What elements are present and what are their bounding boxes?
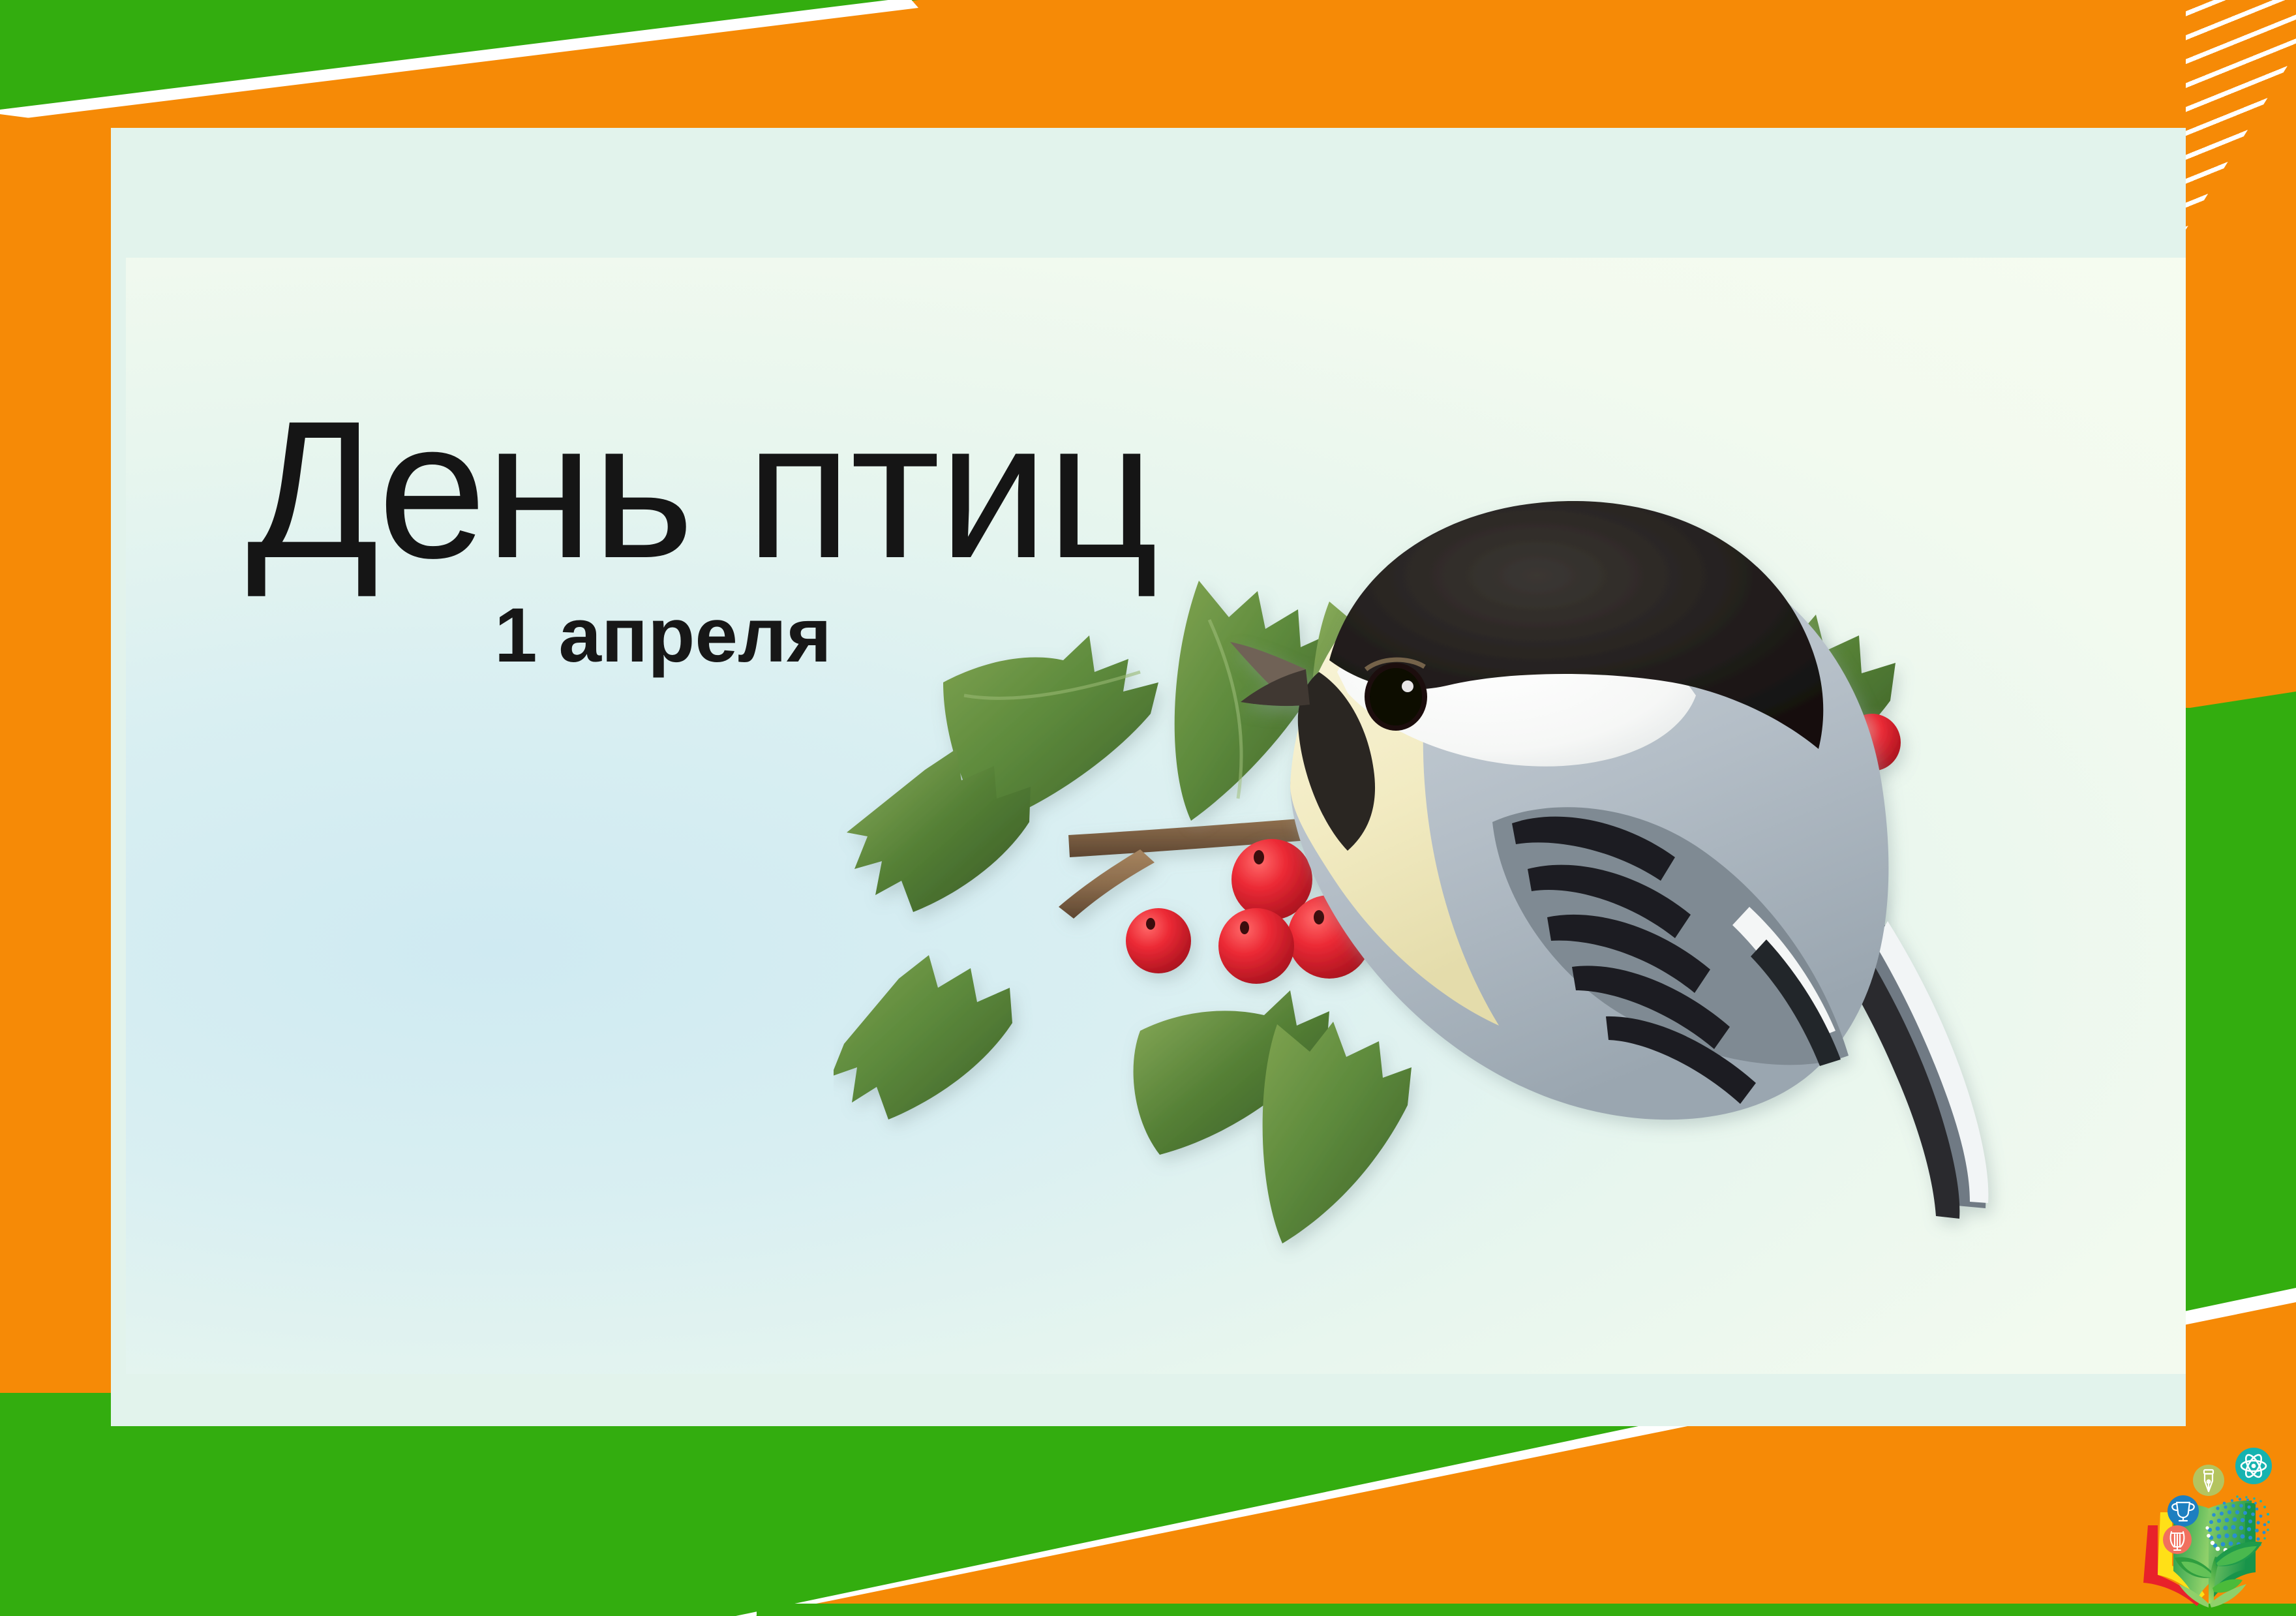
green-bottom-sliver [757,1604,2296,1616]
slide-canvas: День птиц 1 апреля [0,0,2296,1616]
school-emblem [2087,1435,2296,1616]
orange-left-band [0,114,111,1419]
lyre-badge [2163,1525,2192,1554]
slide-picture-panel: День птиц 1 апреля [126,258,2186,1374]
trophy-badge [2168,1495,2199,1527]
pen-nib-badge [2193,1465,2224,1496]
atom-badge [2235,1448,2272,1484]
chickadee-holly-illustration [834,365,2186,1311]
